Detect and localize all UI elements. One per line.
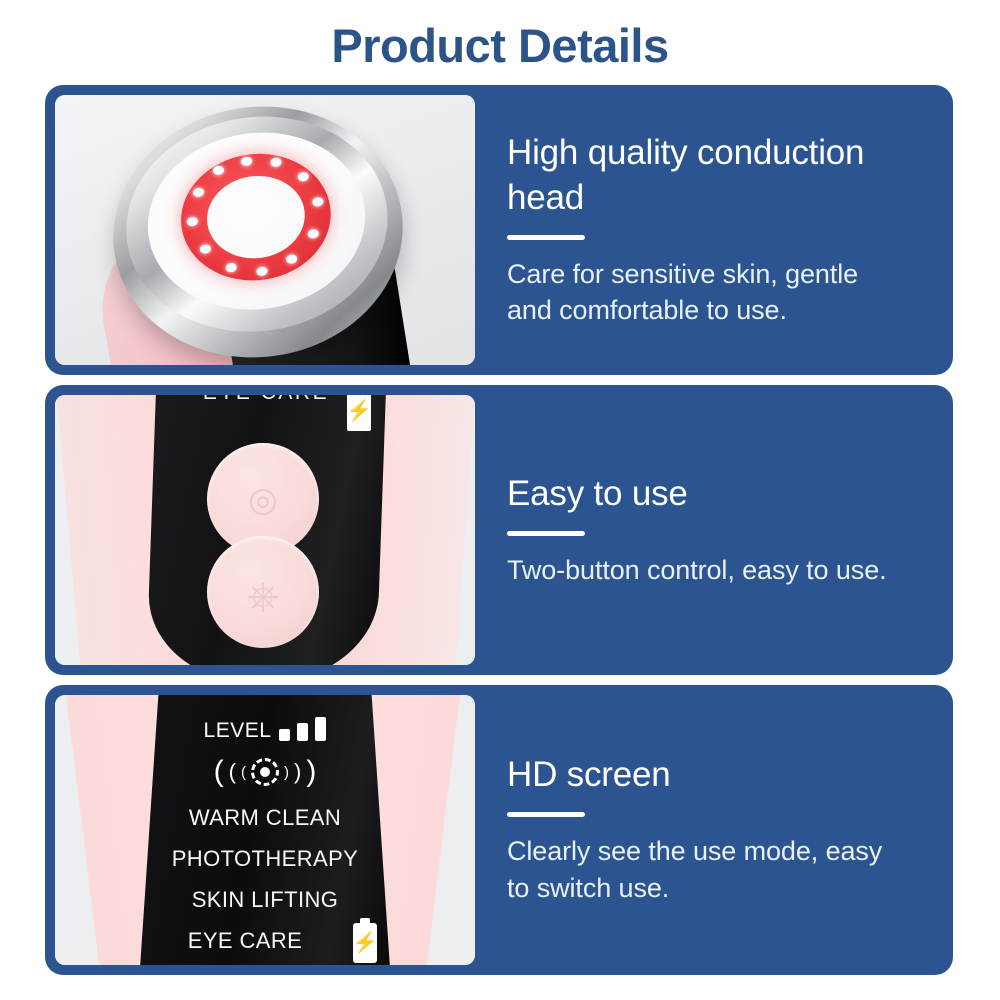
feature-body: Care for sensitive skin, gentle and comf… xyxy=(507,256,907,329)
wave-arc-left-mid: ( xyxy=(229,761,236,783)
feature-heading: Easy to use xyxy=(507,472,929,517)
led-dot xyxy=(297,172,309,182)
led-dot xyxy=(225,263,237,273)
feature-image-two-button-control: EYE CARE ⚡ ◎ ⎈ xyxy=(55,395,475,665)
heading-divider xyxy=(507,812,585,817)
vibration-wave-icon: ( ( ( ) ) ) xyxy=(139,753,391,791)
wave-arc-right-inner: ) xyxy=(284,765,289,780)
led-dot xyxy=(213,166,225,176)
bolt-glyph: ⚡ xyxy=(347,401,372,421)
level-indicator: LEVEL xyxy=(139,717,391,741)
wave-arc-right-outer: ) xyxy=(306,757,316,787)
heading-divider xyxy=(507,531,585,536)
vibration-wave-icon: ◎ xyxy=(207,483,319,517)
feature-text-block: HD screen Clearly see the use mode, easy… xyxy=(475,753,953,906)
conduction-head-face xyxy=(136,119,376,324)
led-dot xyxy=(192,188,204,198)
mode-label-phototherapy: PHOTOTHERAPY xyxy=(139,846,391,872)
wave-arc-left-outer: ( xyxy=(214,757,224,787)
battery-charging-icon: ⚡ xyxy=(347,395,371,431)
level-bar-1 xyxy=(279,729,290,741)
feature-image-hd-screen: LEVEL ( ( ( ) ) ) WARM CLEAN PHOTOTHERAP… xyxy=(55,695,475,965)
led-ring-inner xyxy=(202,170,310,265)
feature-card-conduction-head: High quality conduction head Care for se… xyxy=(45,85,953,375)
hd-display: LEVEL ( ( ( ) ) ) WARM CLEAN PHOTOTHERAP… xyxy=(139,695,391,965)
feature-heading: HD screen xyxy=(507,753,929,798)
level-label: LEVEL xyxy=(204,720,272,741)
wave-arc-left-inner: ( xyxy=(241,765,246,780)
mode-label-warm-clean: WARM CLEAN xyxy=(139,805,391,831)
feature-body: Two-button control, easy to use. xyxy=(507,552,907,589)
power-icon: ⎈ xyxy=(207,576,319,616)
level-bar-3 xyxy=(315,717,326,741)
target-dot-icon xyxy=(251,758,279,786)
page-title: Product Details xyxy=(0,18,1000,74)
level-bar-2 xyxy=(297,723,308,741)
led-dot xyxy=(199,244,211,254)
feature-heading: High quality conduction head xyxy=(507,131,929,221)
feature-card-easy-to-use: EYE CARE ⚡ ◎ ⎈ Easy to use Two-button co… xyxy=(45,385,953,675)
wave-arc-right-mid: ) xyxy=(294,761,301,783)
feature-text-block: High quality conduction head Care for se… xyxy=(475,131,953,329)
feature-card-hd-screen: LEVEL ( ( ( ) ) ) WARM CLEAN PHOTOTHERAP… xyxy=(45,685,953,975)
battery-charging-icon: ⚡ xyxy=(353,923,377,963)
product-details-page: Product Details xyxy=(0,0,1000,1000)
led-dot xyxy=(186,217,198,227)
feature-image-conduction-head xyxy=(55,95,475,365)
mode-label-skin-lifting: SKIN LIFTING xyxy=(139,887,391,913)
feature-text-block: Easy to use Two-button control, easy to … xyxy=(475,472,953,589)
two-button-pad: ◎ ⎈ xyxy=(207,443,319,648)
bolt-glyph: ⚡ xyxy=(353,933,378,953)
led-dot xyxy=(270,158,282,168)
led-dot xyxy=(286,254,298,264)
led-dot xyxy=(241,157,253,167)
led-dot xyxy=(307,229,319,239)
feature-body: Clearly see the use mode, easy to switch… xyxy=(507,833,907,906)
heading-divider xyxy=(507,235,585,240)
led-dot xyxy=(312,197,324,207)
led-light-ring xyxy=(173,145,339,291)
led-dot xyxy=(256,267,268,277)
